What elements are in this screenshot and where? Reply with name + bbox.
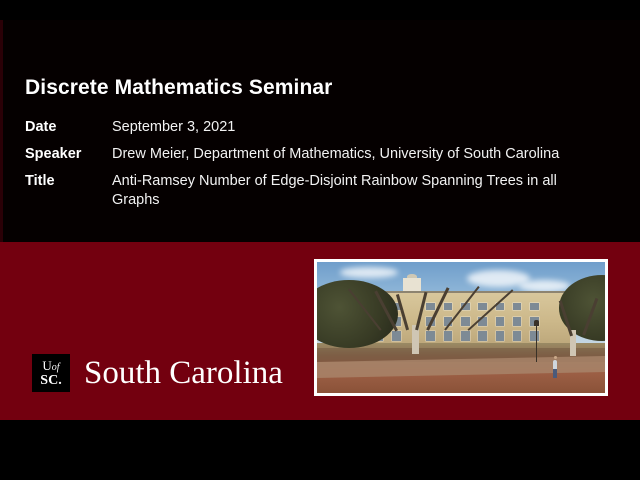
letterbox-bar-top: [0, 0, 640, 20]
page-title: Discrete Mathematics Seminar: [25, 76, 332, 100]
photo-window: [513, 317, 522, 326]
detail-value-title: Anti-Ramsey Number of Edge-Disjoint Rain…: [112, 172, 590, 210]
presentation-slide: Discrete Mathematics Seminar Date Septem…: [0, 0, 640, 480]
letterbox-bar-bottom: [0, 420, 640, 480]
detail-value-speaker: Drew Meier, Department of Mathematics, U…: [112, 145, 590, 164]
photo-window: [392, 331, 401, 340]
detail-value-date: September 3, 2021: [112, 118, 590, 137]
detail-row-speaker: Speaker Drew Meier, Department of Mathem…: [25, 145, 605, 164]
university-logo: Uof SC. South Carolina: [32, 354, 283, 392]
photo-window: [426, 331, 435, 340]
left-edge-accent-strip: [0, 20, 3, 242]
photo-window: [426, 303, 435, 311]
photo-lamp-post: [536, 322, 538, 361]
photo-cloud: [340, 267, 398, 277]
photo-window: [513, 303, 522, 311]
detail-row-title: Title Anti-Ramsey Number of Edge-Disjoin…: [25, 172, 605, 210]
photo-window: [461, 317, 470, 326]
photo-window: [530, 331, 539, 340]
photo-window: [496, 317, 505, 326]
detail-label-speaker: Speaker: [25, 145, 112, 164]
photo-window: [444, 331, 453, 340]
detail-label-title: Title: [25, 172, 112, 191]
photo-lamp-head: [534, 320, 539, 326]
seminar-details-block: Date September 3, 2021 Speaker Drew Meie…: [25, 118, 605, 218]
photo-window: [530, 303, 539, 311]
photo-window: [444, 303, 453, 311]
detail-row-date: Date September 3, 2021: [25, 118, 605, 137]
photo-person-legs: [553, 369, 557, 378]
uofsc-monogram-icon: Uof SC.: [32, 354, 70, 392]
photo-window: [478, 331, 487, 340]
monogram-u-of-line: Uof: [42, 359, 59, 373]
campus-photo-image: [317, 262, 605, 393]
campus-photo-frame: [314, 259, 608, 396]
photo-window: [478, 303, 487, 311]
photo-window: [496, 331, 505, 340]
university-wordmark: South Carolina: [84, 357, 283, 390]
monogram-sc-line: SC.: [40, 374, 61, 388]
photo-window: [513, 331, 522, 340]
photo-window: [461, 331, 470, 340]
detail-label-date: Date: [25, 118, 112, 137]
